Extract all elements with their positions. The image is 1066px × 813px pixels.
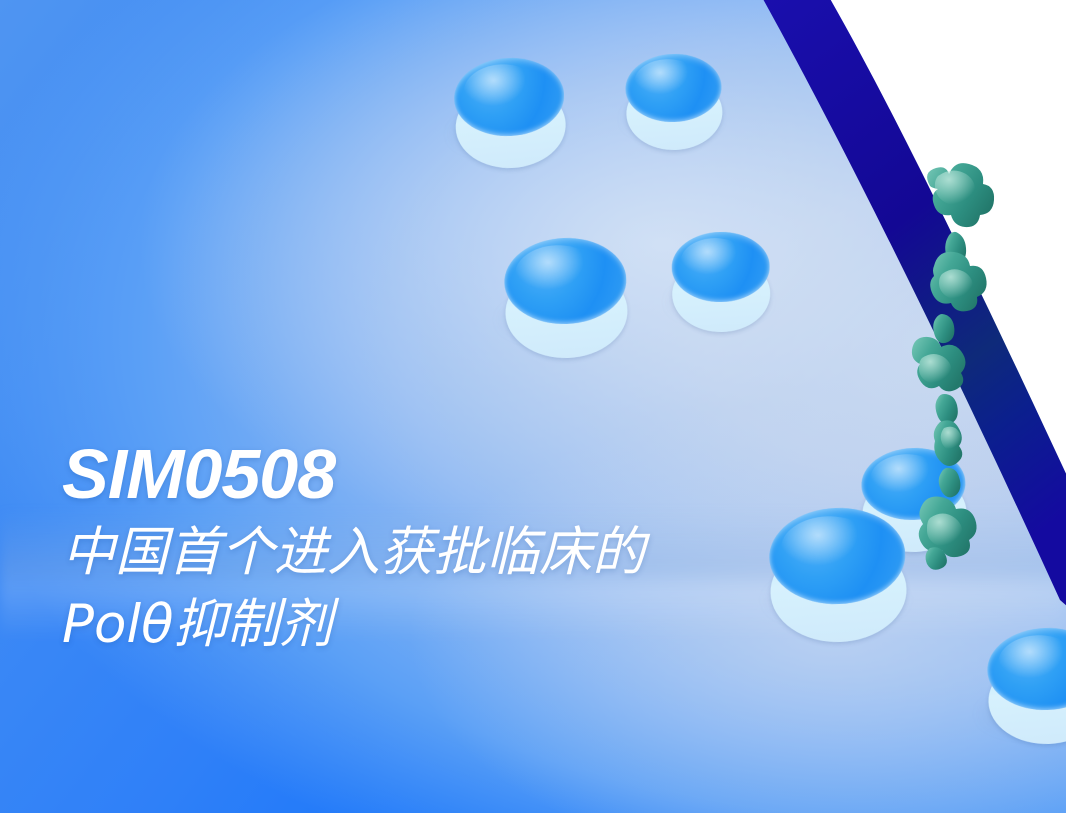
headline-block: SIM0508 中国首个进入获批临床的 Polθ抑制剂 [62,437,645,661]
pill-mid-right [671,231,771,331]
protein-blobs [912,163,994,570]
product-description-line-1: 中国首个进入获批临床的 [62,517,645,589]
pill-top-left [452,55,568,171]
product-description-line-2: Polθ抑制剂 [62,589,645,661]
pill-mid-left [503,236,629,362]
product-code: SIM0508 [62,437,645,511]
pill-top-right [624,52,723,151]
poster-canvas: SIM0508 中国首个进入获批临床的 Polθ抑制剂 [0,0,1066,813]
protein-structure-illustration [886,150,1066,580]
